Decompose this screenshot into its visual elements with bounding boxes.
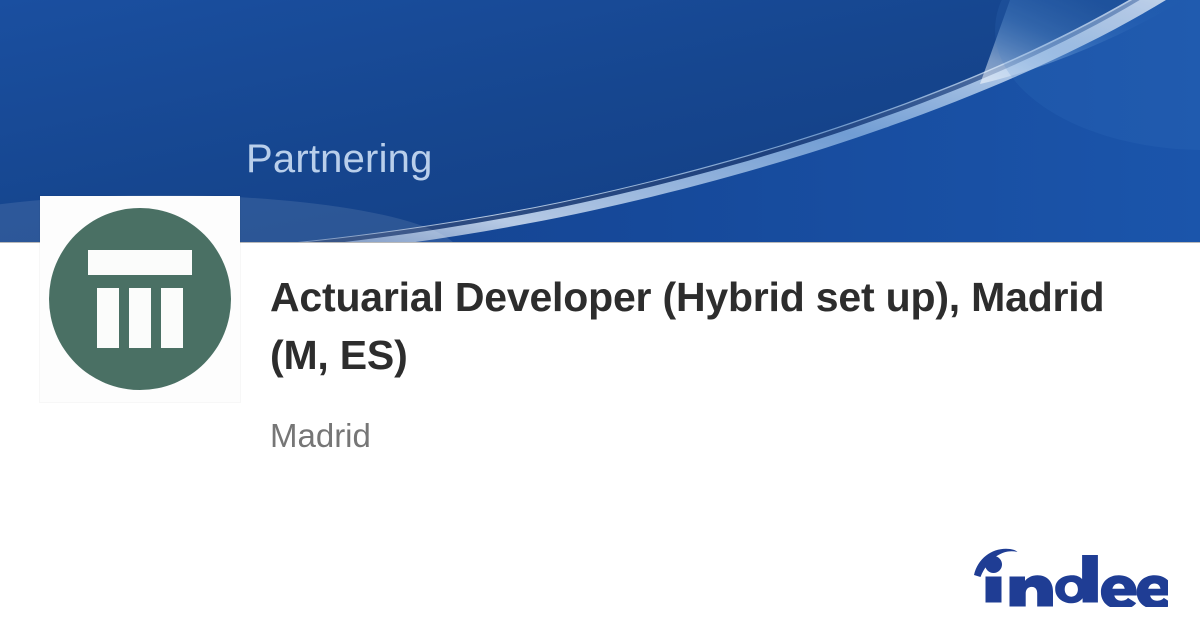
job-info: Actuarial Developer (Hybrid set up), Mad… xyxy=(270,268,1160,456)
temple-lintel xyxy=(88,250,192,275)
company-logo-circle xyxy=(49,208,231,390)
job-title: Actuarial Developer (Hybrid set up), Mad… xyxy=(270,268,1160,384)
indeed-logo xyxy=(968,545,1168,607)
banner-tagline: Partnering for progress xyxy=(246,47,462,243)
banner-tagline-line1: Partnering xyxy=(246,137,462,182)
company-logo-card xyxy=(40,196,240,402)
temple-column-1 xyxy=(97,288,119,348)
temple-columns-icon xyxy=(88,250,192,348)
job-location: Madrid xyxy=(270,384,1160,456)
job-share-card: Partnering for progress Actuarial Develo… xyxy=(0,0,1200,630)
temple-column-2 xyxy=(129,288,151,348)
temple-column-3 xyxy=(161,288,183,348)
indeed-wordmark-icon xyxy=(968,545,1168,607)
